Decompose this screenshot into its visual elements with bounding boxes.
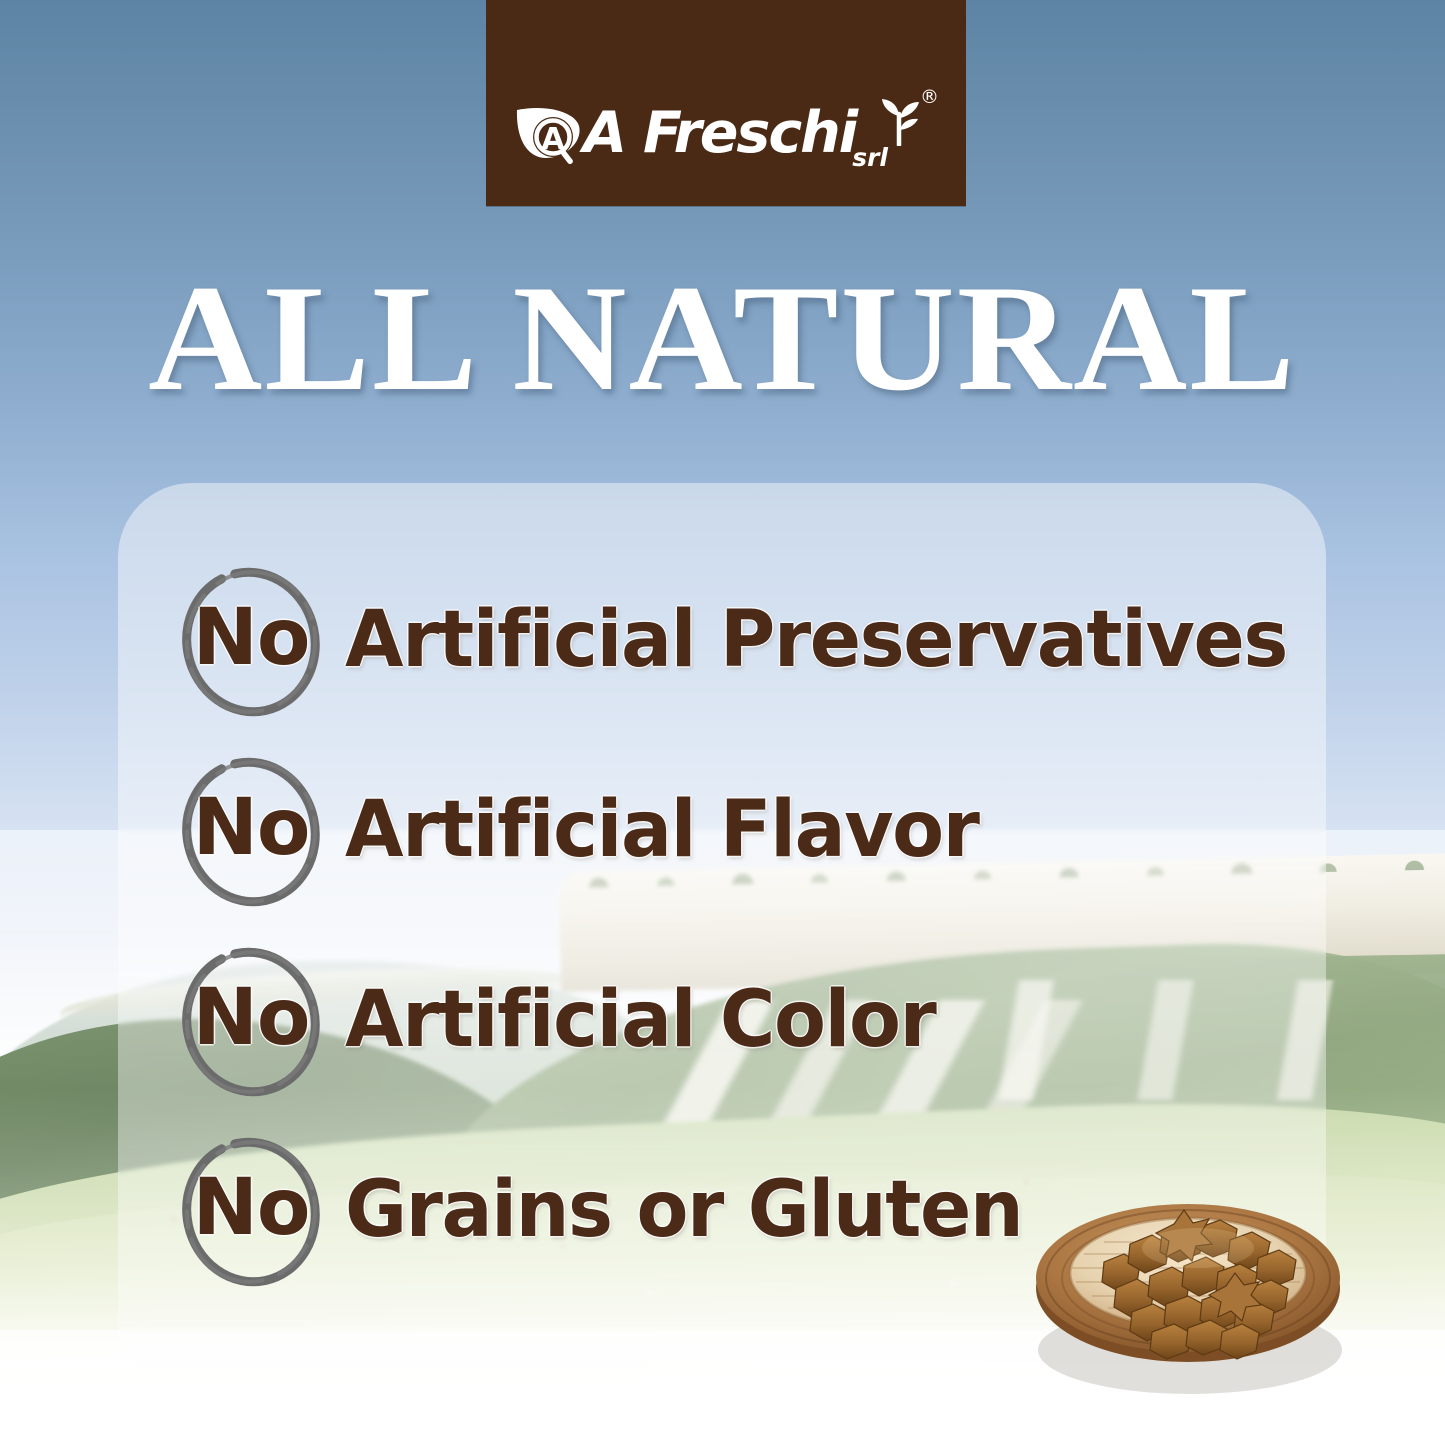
sprout-icon [878,96,922,146]
brand-logo-band: A A Freschi srl ® [486,0,966,206]
product-feature-banner: A A Freschi srl ® ALL NATURAL [0,0,1445,1445]
no-circle-icon: No [175,750,327,910]
claim-prefix: No [193,979,310,1057]
claim-label: Artificial Color [345,981,935,1059]
brand-logo: A A Freschi srl ® [486,88,966,178]
product-image-treats-plate [1012,1136,1364,1401]
claim-label: Artificial Flavor [345,791,978,869]
no-circle-icon: No [175,560,327,720]
page-title: ALL NATURAL [0,262,1445,414]
registered-trademark-icon: ® [920,86,939,108]
claim-prefix: No [193,1169,310,1247]
no-circle-icon: No [175,940,327,1100]
list-item: No Artificial Color [175,925,1335,1115]
claim-label: Artificial Preservatives [345,601,1287,679]
svg-text:A: A [541,122,565,157]
brand-suffix-text: srl [852,143,888,172]
claim-prefix: No [193,599,310,677]
claim-label: Grains or Gluten [345,1171,1022,1249]
leaf-magnifier-icon: A [513,96,587,170]
no-circle-icon: No [175,1130,327,1290]
list-item: No Artificial Preservatives [175,545,1335,735]
list-item: No Artificial Flavor [175,735,1335,925]
claim-prefix: No [193,789,310,867]
brand-name-text: A Freschi [583,105,856,162]
